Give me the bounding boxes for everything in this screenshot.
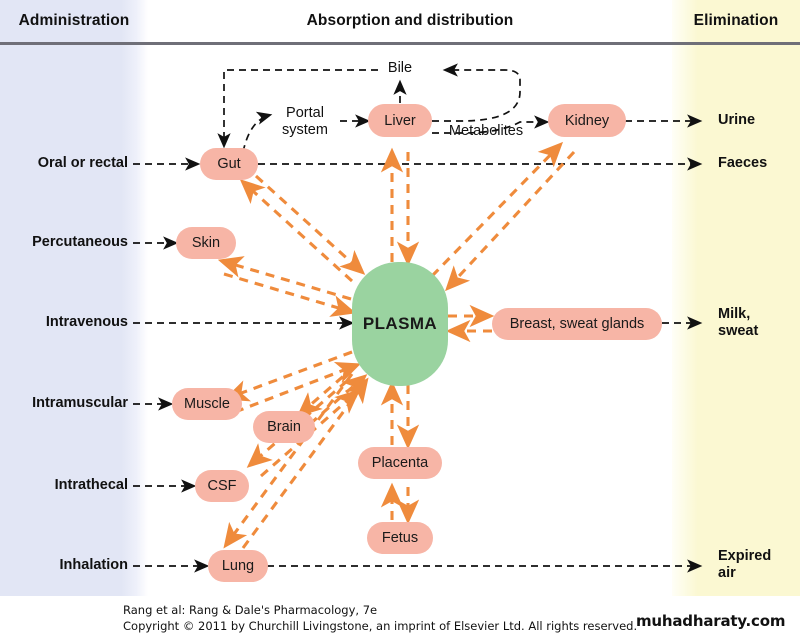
node-lung[interactable]: Lung [208,550,268,582]
elimination-label-milk-sweat-line1: Milk, [718,306,758,323]
header-divider-rule [0,42,800,45]
arrow-gut-to-plasma [256,176,362,272]
arrow-kidney-to-plasma [448,152,574,288]
admin-label-percutaneous: Percutaneous [0,234,128,250]
label-metabolites: Metabolites [440,123,532,139]
admin-label-intramuscular: Intramuscular [0,395,128,411]
diagram-canvas: Administration Absorption and distributi… [0,0,800,634]
arrow-lung-to-plasma [243,381,366,548]
node-brain[interactable]: Brain [253,411,315,443]
node-kidney[interactable]: Kidney [548,104,626,137]
elimination-label-expired-air-line2: air [718,565,771,582]
elimination-label-milk-sweat-line2: sweat [718,323,758,340]
arrow-skin-to-plasma [224,274,352,312]
arrow-plasma-to-skin [222,261,351,299]
arrow-muscle-to-plasma [235,365,357,412]
arrow-plasma-to-gut [243,182,352,281]
header-absorption: Absorption and distribution [148,12,672,30]
node-breast-sweat-glands[interactable]: Breast, sweat glands [492,308,662,340]
arrow-gut-to-portal-system [243,115,270,152]
node-skin[interactable]: Skin [176,227,236,259]
node-plasma[interactable]: PLASMA [352,262,448,386]
arrow-plasma-to-brain [300,366,355,414]
node-placenta[interactable]: Placenta [358,447,442,479]
node-csf[interactable]: CSF [195,470,249,502]
header-administration: Administration [0,12,148,30]
label-portal-system-line2: system [272,122,338,138]
node-gut[interactable]: Gut [200,148,258,180]
elimination-column-band [672,0,800,596]
arrow-plasma-to-kidney [432,145,560,276]
arrow-plasma-to-lung [226,374,352,545]
arrow-brain-to-plasma [310,377,364,424]
footer-credit: Rang et al: Rang & Dale's Pharmacology, … [123,603,637,634]
elimination-label-urine: Urine [718,112,755,129]
elimination-label-expired-air-line1: Expired [718,548,771,565]
administration-column-band [0,0,148,596]
elimination-label-milk-sweat: Milk, sweat [718,306,758,339]
label-bile: Bile [374,60,426,76]
arrow-plasma-to-muscle [228,352,352,398]
header-elimination: Elimination [672,12,800,30]
node-muscle[interactable]: Muscle [172,388,242,420]
node-liver[interactable]: Liver [368,104,432,137]
elimination-label-expired-air: Expired air [718,548,771,581]
footer-citation: Rang et al: Rang & Dale's Pharmacology, … [123,603,637,619]
admin-label-intravenous: Intravenous [0,314,128,330]
admin-label-inhalation: Inhalation [0,557,128,573]
watermark: muhadharaty.com [636,612,785,630]
footer-copyright: Copyright © 2011 by Churchill Livingston… [123,619,637,634]
admin-label-intrathecal: Intrathecal [0,477,128,493]
admin-label-oral-or-rectal: Oral or rectal [0,155,128,171]
arrow-liver-metabolites-loop [432,70,520,121]
node-fetus[interactable]: Fetus [367,522,433,554]
elimination-label-faeces: Faeces [718,155,767,172]
label-portal-system-line1: Portal [272,105,338,121]
